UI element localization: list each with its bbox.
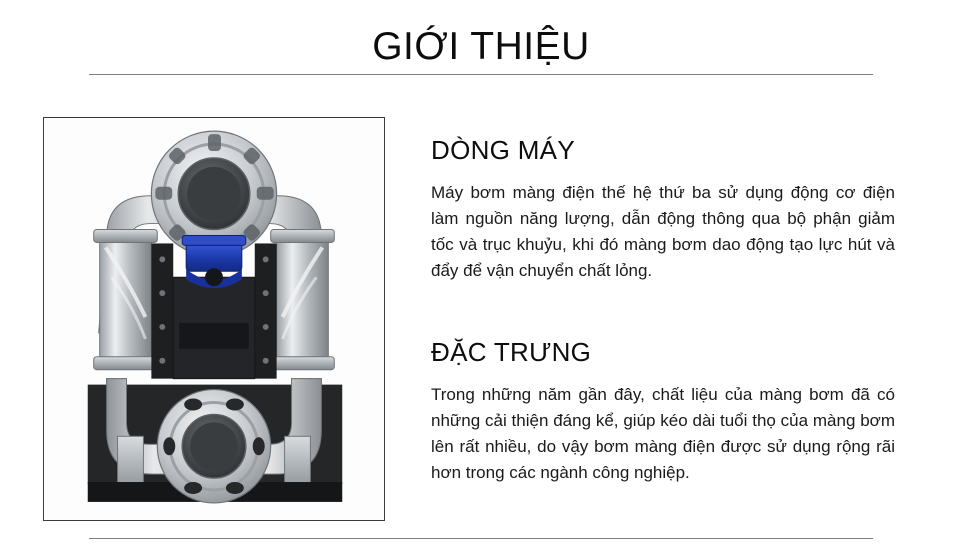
diaphragm-pump-illustration: [44, 118, 384, 520]
product-image-frame: [43, 117, 385, 521]
slide-root: GIỚI THIỆU: [0, 0, 960, 560]
page-title: GIỚI THIỆU: [89, 24, 873, 70]
right-diaphragm-chamber: [271, 230, 335, 370]
section-body-dong-may: Máy bơm màng điện thế hệ thứ ba sử dụng …: [431, 180, 895, 284]
section-dac-trung: ĐẶC TRƯNG Trong những năm gần đây, chất …: [431, 336, 895, 486]
divider-bottom: [89, 538, 873, 539]
center-body-shadow: [179, 323, 249, 349]
blue-motor-housing: [182, 235, 246, 288]
content-column: DÒNG MÁY Máy bơm màng điện thế hệ thứ ba…: [431, 134, 895, 508]
section-dong-may: DÒNG MÁY Máy bơm màng điện thế hệ thứ ba…: [431, 134, 895, 284]
section-spacer: [431, 306, 895, 336]
divider-top: [89, 74, 873, 75]
section-heading-dac-trung: ĐẶC TRƯNG: [431, 336, 895, 368]
section-body-dac-trung: Trong những năm gần đây, chất liệu của m…: [431, 382, 895, 486]
section-heading-dong-may: DÒNG MÁY: [431, 134, 895, 166]
product-image: [44, 118, 384, 520]
bottom-flange: [157, 390, 270, 503]
left-diaphragm-chamber: [94, 230, 158, 370]
